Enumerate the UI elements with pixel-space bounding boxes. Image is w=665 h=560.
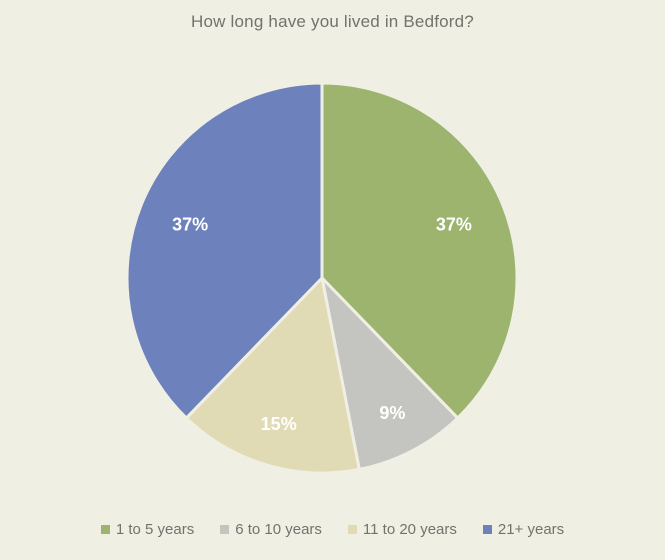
pie-chart-svg: 37%9%15%37% — [0, 0, 665, 500]
pie-chart-plot-area: 37%9%15%37% — [0, 0, 665, 500]
pie-slice-group — [127, 83, 517, 473]
legend-swatch-icon — [348, 525, 357, 534]
chart-legend: 1 to 5 years6 to 10 years11 to 20 years2… — [0, 522, 665, 537]
pie-slice-value-label: 15% — [261, 414, 297, 434]
legend-swatch-icon — [483, 525, 492, 534]
legend-swatch-icon — [220, 525, 229, 534]
legend-item[interactable]: 21+ years — [483, 522, 564, 537]
legend-item-label: 1 to 5 years — [116, 522, 194, 537]
pie-chart-panel: How long have you lived in Bedford? 37%9… — [0, 0, 665, 560]
legend-item-label: 21+ years — [498, 522, 564, 537]
legend-item-label: 11 to 20 years — [363, 522, 457, 537]
legend-item[interactable]: 11 to 20 years — [348, 522, 457, 537]
pie-slice-value-label: 9% — [379, 403, 405, 423]
pie-slice-value-label: 37% — [172, 215, 208, 235]
legend-swatch-icon — [101, 525, 110, 534]
legend-item[interactable]: 1 to 5 years — [101, 522, 194, 537]
legend-item[interactable]: 6 to 10 years — [220, 522, 322, 537]
pie-slice-value-label: 37% — [436, 215, 472, 235]
legend-item-label: 6 to 10 years — [235, 522, 322, 537]
